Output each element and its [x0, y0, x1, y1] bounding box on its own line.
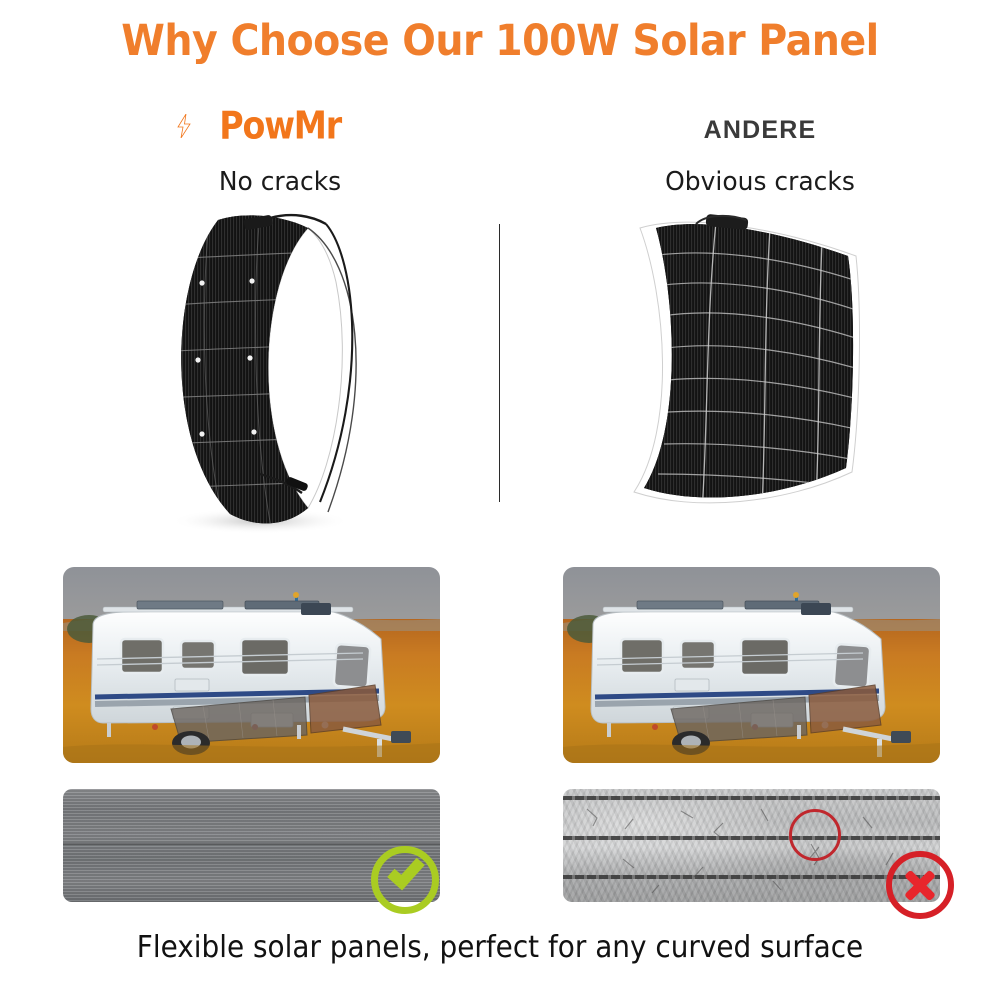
lightning-bolt-icon: [177, 114, 191, 138]
crack-highlight-circle: [789, 809, 841, 861]
red-x-badge: [886, 851, 954, 919]
crack-lines: [563, 789, 940, 902]
rv-photo-left: [63, 567, 440, 763]
page-title: Why Choose Our 100W Solar Panel: [40, 16, 960, 66]
powmr-logo-text: PowMr: [219, 105, 341, 148]
check-icon: [387, 852, 425, 891]
left-caption: No cracks: [160, 167, 400, 197]
infographic-page: Why Choose Our 100W Solar Panel PowMr AN…: [0, 0, 1000, 1000]
brand-right-label: ANDERE: [620, 116, 900, 145]
rv-photo-right: [563, 567, 940, 763]
brand-left: PowMr: [155, 107, 405, 151]
left-panel-illustration: [140, 212, 420, 537]
flexible-solar-panel-curved-icon: [140, 212, 420, 537]
swatch-cracked-surface: [563, 789, 940, 902]
green-check-badge: [371, 846, 439, 914]
vertical-divider: [499, 224, 500, 502]
footer-caption: Flexible solar panels, perfect for any c…: [35, 930, 965, 965]
rv-caravan-illustration: [63, 567, 440, 763]
rv-caravan-illustration: [563, 567, 940, 763]
right-caption: Obvious cracks: [626, 167, 895, 197]
right-panel-illustration: [610, 212, 910, 537]
flexible-solar-panel-s-curve-icon: [610, 212, 910, 537]
